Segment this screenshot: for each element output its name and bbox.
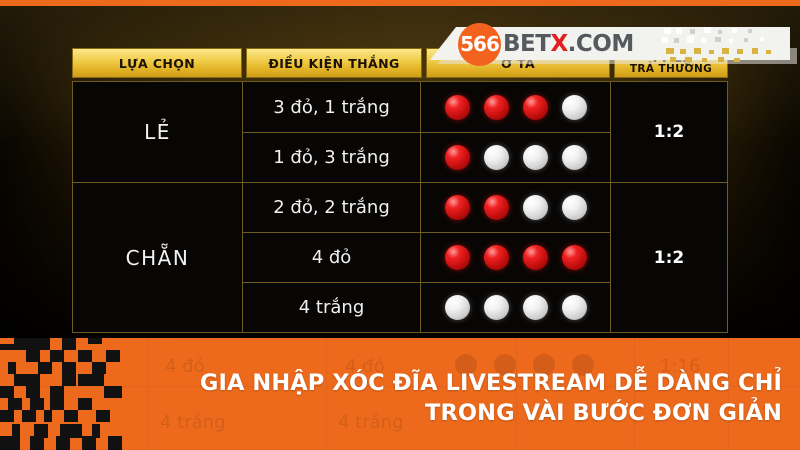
ball-red — [523, 245, 548, 270]
logo-word-x: X — [550, 31, 567, 57]
option-cell-odd: LẺ — [73, 82, 242, 182]
logo-word-com: .COM — [568, 31, 634, 57]
ball-white — [562, 145, 587, 170]
ball-white — [484, 295, 509, 320]
ball-red — [484, 245, 509, 270]
ball-red — [523, 95, 548, 120]
condition-cell: 2 đỏ, 2 trắng — [243, 183, 421, 232]
table-header-option: LỰA CHỌN — [72, 48, 242, 78]
balls-cell — [421, 183, 611, 232]
logo-wordmark: BET X .COM — [503, 31, 634, 57]
option-cell-even: CHẴN — [73, 182, 242, 332]
ball-red — [445, 195, 470, 220]
logo-badge-icon: 566 — [458, 23, 501, 66]
payout-column: 1:2 1:2 — [611, 82, 727, 332]
option-column: LẺ CHẴN — [73, 82, 243, 332]
table-row: 4 đỏ — [243, 232, 611, 282]
table-row: 3 đỏ, 1 trắng — [243, 82, 611, 132]
condition-cell: 4 đỏ — [243, 233, 421, 282]
condition-and-balls-column: 3 đỏ, 1 trắng 1 đỏ, 3 trắng — [243, 82, 611, 332]
payout-cell-odd: 1:2 — [611, 82, 727, 182]
balls-cell — [421, 82, 611, 132]
balls-cell — [421, 233, 611, 282]
ball-white — [484, 145, 509, 170]
ball-red — [562, 245, 587, 270]
ball-white — [523, 145, 548, 170]
condition-cell: 3 đỏ, 1 trắng — [243, 82, 421, 132]
censored-text-blocks — [660, 26, 785, 66]
logo-word-bet: BET — [503, 31, 550, 57]
ball-red — [445, 245, 470, 270]
ball-white — [562, 295, 587, 320]
table-row: 1 đỏ, 3 trắng — [243, 132, 611, 182]
ball-red — [484, 195, 509, 220]
condition-cell: 1 đỏ, 3 trắng — [243, 133, 421, 182]
payout-table: LỰA CHỌN ĐIỀU KIỆN THẮNG Ở TA TỶ LỆ TRẢ … — [72, 48, 728, 333]
ball-white — [562, 195, 587, 220]
logo-badge-text: 566 — [460, 32, 499, 56]
banner-headline: GIA NHẬP XÓC ĐĨA LIVESTREAM DỄ DÀNG CHỈ … — [122, 368, 782, 428]
table-body: LẺ CHẴN 3 đỏ, 1 trắng 1 đỏ, 3 trắng — [72, 81, 728, 333]
balls-cell — [421, 283, 611, 332]
payout-cell-even: 1:2 — [611, 182, 727, 332]
banner-headline-line2: TRONG VÀI BƯỚC ĐƠN GIẢN — [122, 398, 782, 428]
table-row: 2 đỏ, 2 trắng — [243, 182, 611, 232]
site-logo[interactable]: 566 BET X .COM — [458, 24, 634, 64]
ball-white — [445, 295, 470, 320]
balls-cell — [421, 133, 611, 182]
ball-red — [445, 95, 470, 120]
banner-headline-line1: GIA NHẬP XÓC ĐĨA LIVESTREAM DỄ DÀNG CHỈ — [200, 370, 782, 396]
condition-cell: 4 trắng — [243, 283, 421, 332]
ball-red — [484, 95, 509, 120]
table-row: 4 trắng — [243, 282, 611, 332]
qr-code-icon[interactable] — [0, 338, 135, 450]
table-header-condition: ĐIỀU KIỆN THẮNG — [246, 48, 422, 78]
ball-white — [562, 95, 587, 120]
ball-white — [523, 295, 548, 320]
ball-red — [445, 145, 470, 170]
ball-white — [523, 195, 548, 220]
